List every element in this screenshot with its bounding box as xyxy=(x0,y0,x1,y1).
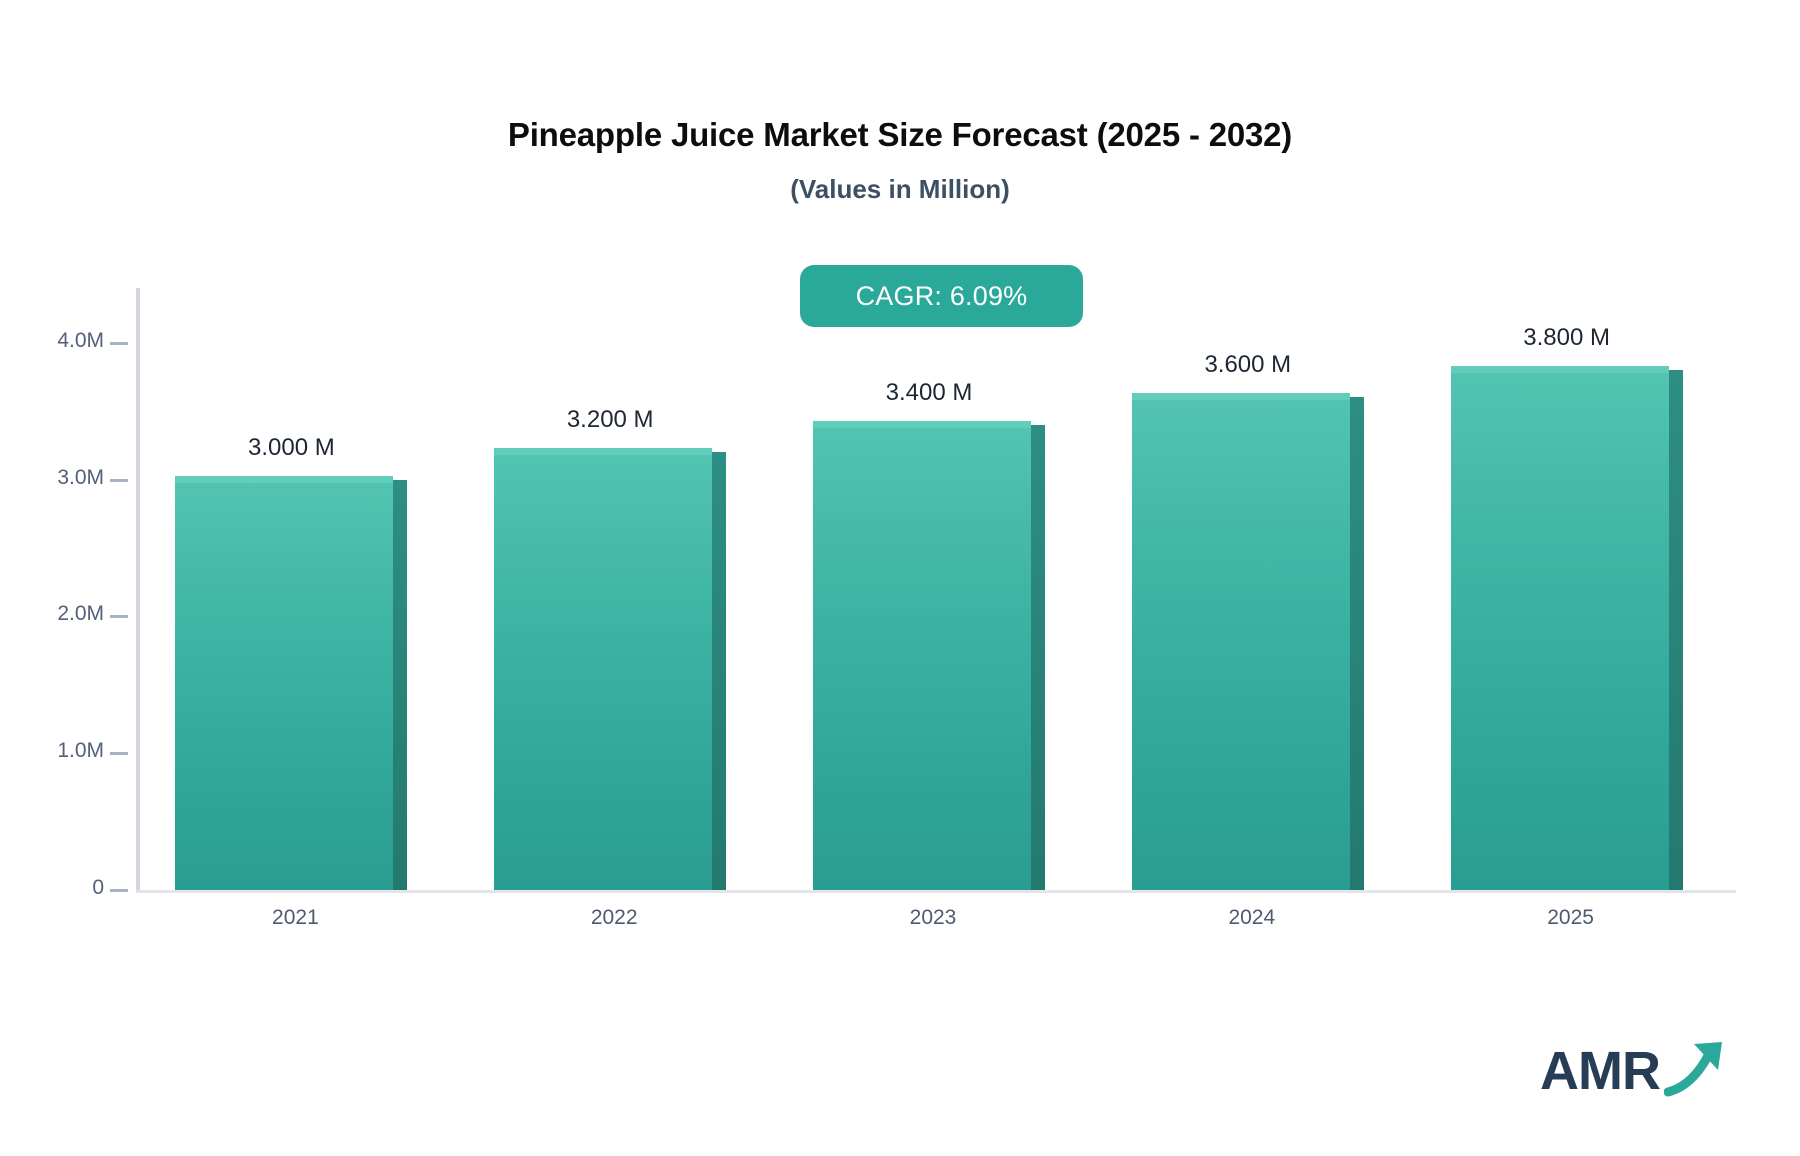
bar-value-label: 3.400 M xyxy=(773,379,1085,407)
bar xyxy=(1451,370,1683,890)
y-axis-tick-label: 1.0M xyxy=(12,739,104,763)
amr-logo-text: AMR xyxy=(1540,1040,1660,1102)
bar-top-face xyxy=(1451,366,1669,373)
chart-title: Pineapple Juice Market Size Forecast (20… xyxy=(0,116,1800,154)
bar-value-label: 3.000 M xyxy=(135,434,447,462)
chart-subtitle: (Values in Million) xyxy=(0,174,1800,205)
bar-side-face xyxy=(1031,425,1045,890)
chart-canvas: Pineapple Juice Market Size Forecast (20… xyxy=(0,0,1800,1156)
bar-side-face xyxy=(1350,397,1364,890)
y-axis-tick-label: 4.0M xyxy=(12,329,104,353)
x-axis-line xyxy=(136,890,1736,893)
y-axis-tick-mark xyxy=(110,615,128,618)
bar-value-label: 3.200 M xyxy=(454,406,766,434)
cagr-badge: CAGR: 6.09% xyxy=(800,265,1083,327)
x-axis-tick-label: 2021 xyxy=(195,906,395,930)
bar-front-face xyxy=(494,452,712,890)
y-axis-tick-label: 3.0M xyxy=(12,466,104,490)
bar-top-face xyxy=(1132,393,1350,400)
bar-side-face xyxy=(1669,370,1683,890)
bar-top-face xyxy=(175,476,393,483)
bar-front-face xyxy=(1451,370,1669,890)
growth-arrow-icon xyxy=(1664,1036,1734,1098)
bar-front-face xyxy=(175,480,393,890)
bar-value-label: 3.800 M xyxy=(1411,324,1723,352)
y-axis-tick-label: 0 xyxy=(12,876,104,900)
y-axis-tick-mark xyxy=(110,479,128,482)
y-axis-tick-mark xyxy=(110,752,128,755)
bar-top-face xyxy=(813,421,1031,428)
y-axis-tick-mark xyxy=(110,342,128,345)
bar xyxy=(494,452,726,890)
bar xyxy=(813,425,1045,890)
y-axis-tick-label: 2.0M xyxy=(12,602,104,626)
bar-top-face xyxy=(494,448,712,455)
x-axis-tick-label: 2024 xyxy=(1152,906,1352,930)
y-axis-tick-mark xyxy=(110,889,128,892)
x-axis-tick-label: 2023 xyxy=(833,906,1033,930)
bar-side-face xyxy=(393,480,407,890)
bar-front-face xyxy=(1132,397,1350,890)
bar-front-face xyxy=(813,425,1031,890)
bar xyxy=(1132,397,1364,890)
bar-value-label: 3.600 M xyxy=(1092,351,1404,379)
x-axis-tick-label: 2022 xyxy=(514,906,714,930)
x-axis-tick-label: 2025 xyxy=(1471,906,1671,930)
amr-logo: AMR xyxy=(1540,1040,1740,1112)
bar-side-face xyxy=(712,452,726,890)
bar xyxy=(175,480,407,890)
